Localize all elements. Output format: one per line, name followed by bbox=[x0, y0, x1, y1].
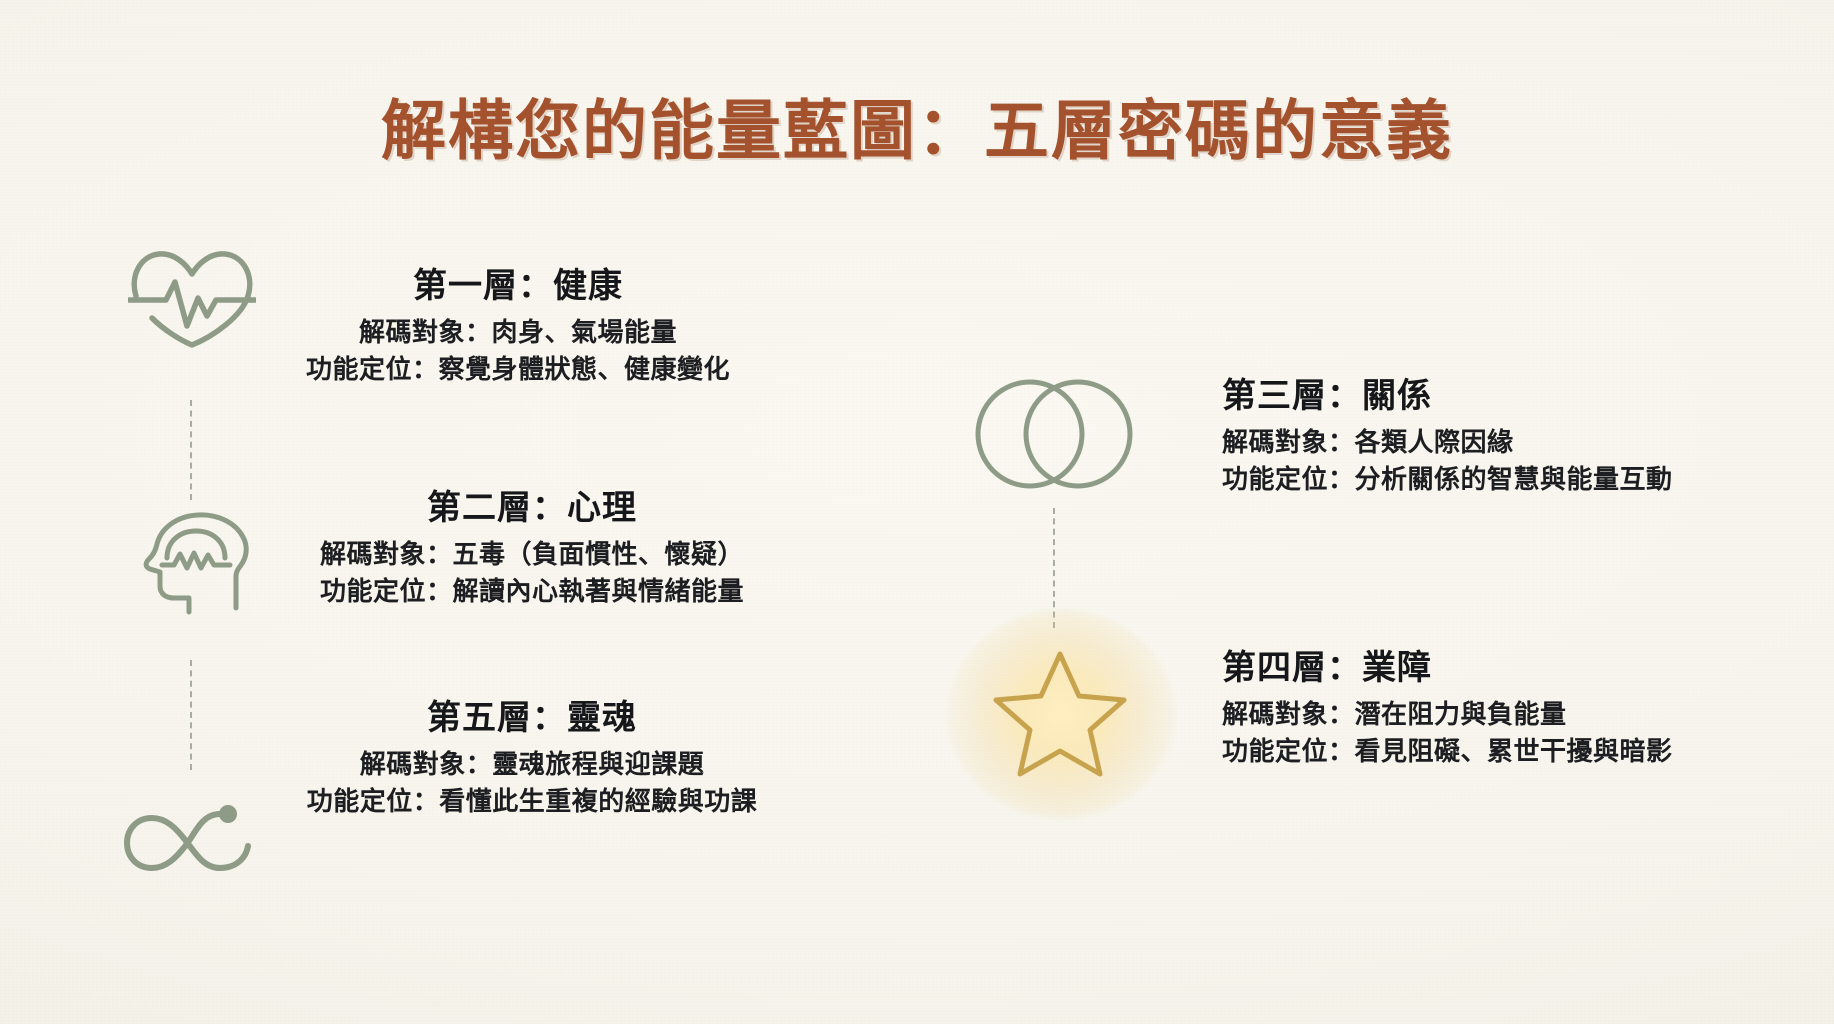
layer-3-heading: 第三層：關係 bbox=[1222, 368, 1834, 417]
layer-5-heading: 第五層：靈魂 bbox=[272, 690, 792, 739]
layer-3-decode: 解碼對象：各類人際因緣 bbox=[1222, 424, 1834, 461]
layer-1-decode: 解碼對象：肉身、氣場能量 bbox=[258, 314, 778, 351]
layer-block-psychology: 第二層：心理 解碼對象：五毒（負面慣性、懷疑） 功能定位：解讀內心執著與情緒能量 bbox=[272, 480, 792, 610]
layer-2-function: 功能定位：解讀內心執著與情緒能量 bbox=[272, 573, 792, 610]
layer-5-function: 功能定位：看懂此生重複的經驗與功課 bbox=[272, 783, 792, 820]
layer-4-function: 功能定位：看見阻礙、累世干擾與暗影 bbox=[1222, 733, 1834, 770]
layer-block-health: 第一層：健康 解碼對象：肉身、氣場能量 功能定位：察覺身體狀態、健康變化 bbox=[258, 258, 778, 388]
layer-2-heading: 第二層：心理 bbox=[272, 480, 792, 529]
layer-block-soul: 第五層：靈魂 解碼對象：靈魂旅程與迎課題 功能定位：看懂此生重複的經驗與功課 bbox=[272, 690, 792, 820]
layer-4-decode: 解碼對象：潛在阻力與負能量 bbox=[1222, 696, 1834, 733]
layer-1-function: 功能定位：察覺身體狀態、健康變化 bbox=[258, 351, 778, 388]
page-title: 解構您的能量藍圖：五層密碼的意義 bbox=[0, 78, 1834, 172]
layer-1-heading: 第一層：健康 bbox=[258, 258, 778, 307]
infinity-icon bbox=[124, 798, 260, 884]
head-brainwave-icon bbox=[140, 510, 252, 618]
overlapping-circles-icon bbox=[968, 378, 1140, 490]
connector-layer1-layer2 bbox=[190, 400, 192, 500]
heart-pulse-icon bbox=[128, 240, 256, 348]
layer-5-decode: 解碼對象：靈魂旅程與迎課題 bbox=[272, 746, 792, 783]
layer-block-relationship: 第三層：關係 解碼對象：各類人際因緣 功能定位：分析關係的智慧與能量互動 bbox=[1222, 368, 1834, 498]
slide-canvas: 解構您的能量藍圖：五層密碼的意義 bbox=[0, 0, 1834, 1024]
glowing-star-icon bbox=[990, 648, 1130, 778]
layer-2-decode: 解碼對象：五毒（負面慣性、懷疑） bbox=[272, 536, 792, 573]
connector-layer2-layer5 bbox=[190, 660, 192, 770]
layer-block-karma: 第四層：業障 解碼對象：潛在阻力與負能量 功能定位：看見阻礙、累世干擾與暗影 bbox=[1222, 640, 1834, 770]
layer-3-function: 功能定位：分析關係的智慧與能量互動 bbox=[1222, 461, 1834, 498]
connector-layer3-layer4 bbox=[1053, 508, 1055, 628]
layer-4-heading: 第四層：業障 bbox=[1222, 640, 1834, 689]
